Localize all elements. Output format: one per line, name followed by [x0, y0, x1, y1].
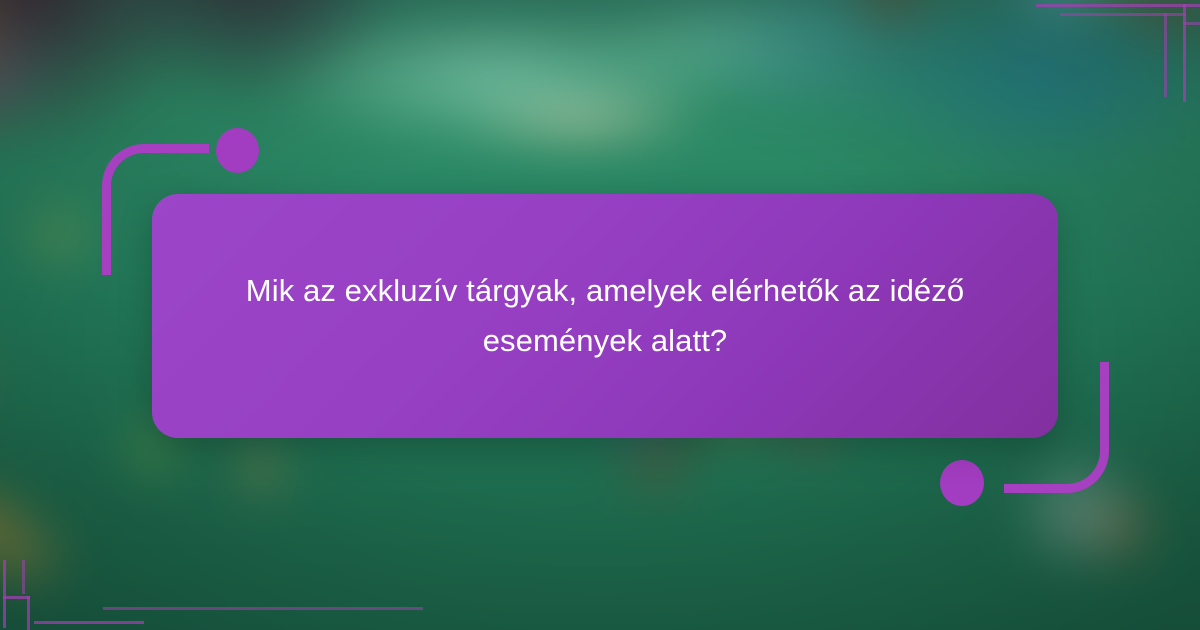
frame-line-bottom-left-vertical-inner: [22, 560, 25, 594]
question-text: Mik az exkluzív tárgyak, amelyek elérhet…: [222, 266, 988, 366]
frame-line-top-right-vertical-inner: [1164, 13, 1167, 97]
frame-line-top-right-square-top: [1183, 4, 1200, 7]
frame-line-bottom-left-bracket-horizontal: [3, 596, 30, 599]
question-card-banner: Mik az exkluzív tárgyak, amelyek elérhet…: [0, 0, 1200, 630]
frame-line-top-right-horizontal-inner: [1060, 13, 1186, 16]
frame-line-top-right-vertical-outer: [1183, 4, 1186, 102]
frame-line-bottom-left-horizontal-long: [103, 607, 423, 610]
frame-line-bottom-left-horizontal-outer: [34, 621, 144, 624]
dot-top-left-icon: [216, 128, 259, 173]
frame-line-bottom-left-bracket-vertical: [27, 596, 30, 630]
dot-bottom-right-icon: [940, 460, 984, 506]
frame-line-bottom-left-vertical-outer: [3, 560, 6, 628]
frame-line-top-right-horizontal-outer: [1036, 4, 1186, 7]
frame-line-top-right-square-bottom: [1183, 22, 1200, 25]
question-card: Mik az exkluzív tárgyak, amelyek elérhet…: [152, 194, 1058, 438]
